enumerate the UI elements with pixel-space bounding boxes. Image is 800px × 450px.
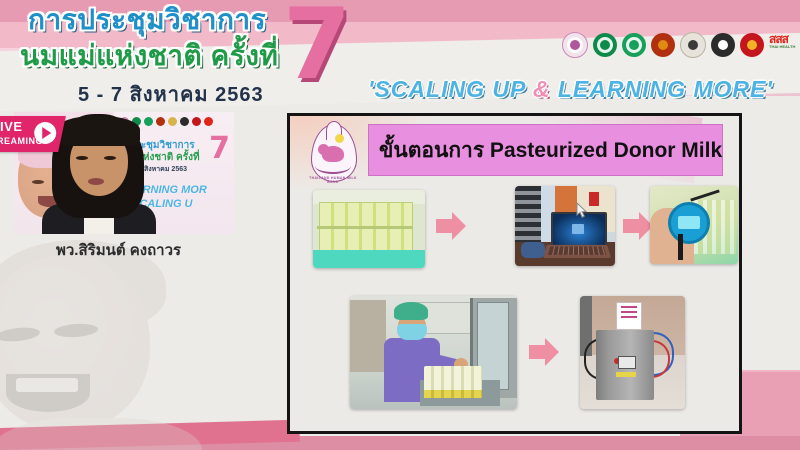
tile1-floor [313,250,425,268]
royal-college-logo [651,33,675,57]
tile4-cabinet [350,300,386,372]
royal-emblem-logo [680,32,706,58]
conference-date: 5 - 7 สิงหาคม 2563 [78,78,264,110]
tagline-part1: 'SCALING UP [368,76,533,102]
tile5-wall-sign [616,302,642,330]
tile2-wall-poster [589,192,599,206]
speaker-eye-left [76,156,88,160]
watermark-teeth [16,378,78,392]
speaker-fringe [56,116,140,146]
human-milk-bank-logo: THAILAND HUMAN MILK BANK [302,122,364,186]
tile1-bottle-rack [319,202,413,256]
pasteurizer-body [596,330,654,400]
health-department-logo [622,33,646,57]
play-icon [34,122,56,144]
pasteurizer-display-panel [618,356,636,369]
ministry-of-public-health-logo [593,33,617,57]
thaihealth-sss-logo: สสส THAI HEALTH [769,33,799,57]
speaker-mouth [88,178,104,185]
tile1-shelf [317,226,413,229]
tagline-part2: LEARNING MORE' [550,76,772,102]
university-seal-logo [711,33,735,57]
pasteurizer-label [616,372,636,377]
step-pasteurizer-machine [580,296,685,409]
step-nurse-loading-bottles [350,296,517,409]
watermark-eye-right [54,322,99,338]
logo-cradle-arms [315,158,351,174]
backdrop-edition-number: 7 [209,134,230,164]
royal-patron-logo [562,32,588,58]
child-photo-watermark [0,240,212,450]
step-milk-bottles-rack [313,190,425,268]
live-streaming-badge: LIVE STREAMING [0,116,66,152]
tagline-ampersand: & [533,76,551,102]
baby-eye-left [32,180,44,184]
computer-mouse [521,242,545,258]
logo-caption: THAILAND HUMAN MILK BANK [304,176,362,184]
conference-tagline: 'SCALING UP & LEARNING MORE' [368,76,773,103]
screen-capture: การประชุมวิชาการ นมแม่แห่งชาติ ครั้งที่ … [0,0,800,450]
arrow-icon-3 [529,338,561,366]
live-badge-label: LIVE [0,119,23,134]
presenter-name: พว.สิริมนต์ คงถาวร [56,238,181,262]
surgical-mask-icon [397,324,427,340]
tile4-bottle-caps [424,390,482,398]
conference-title-line2: นมแม่แห่งชาติ ครั้งที่ [20,42,278,70]
slide-title-text: ขั้นตอนการ Pasteurized Donor Milk [369,134,722,167]
watermark-body [0,418,202,450]
arrow-icon-1 [436,212,468,240]
conference-edition-number: 7 [283,0,351,94]
step-temperature-probe-check [650,186,738,264]
thermometer-display [678,216,700,229]
milk-droplet-icon [335,134,344,143]
laptop-keyboard [543,245,611,258]
sponsor-logo-strip: สสส THAI HEALTH [562,28,798,62]
slide-title-banner: ขั้นตอนการ Pasteurized Donor Milk [368,124,723,176]
presentation-slide-panel: THAILAND HUMAN MILK BANK ขั้นตอนการ Past… [287,113,742,434]
conference-title-line1: การประชุมวิชาการ [28,6,266,34]
speaker-eye-right [104,156,116,160]
screen-window-icon [572,224,584,234]
step-laptop-data-entry [515,186,615,266]
surgical-cap-icon [394,302,428,320]
red-crest-logo [740,33,764,57]
thermometer-gauge [668,202,710,244]
thermometer-stem [678,234,683,260]
watermark-eye-left [0,326,41,344]
thaihealth-wordmark-sub: THAI HEALTH [769,45,799,49]
